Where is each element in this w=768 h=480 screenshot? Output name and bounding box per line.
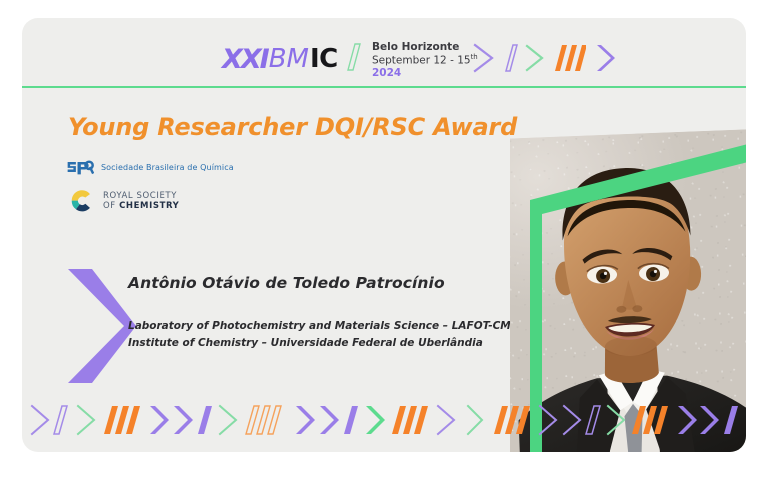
rsc-line-2-bold: CHEMISTRY (119, 201, 179, 211)
logo-roman-numeral: XXI (222, 46, 268, 73)
society-name-sbq: Sociedade Brasileira de Química (101, 163, 234, 172)
award-card: XXI BM IC Belo Horizonte September 12 - … (22, 18, 746, 452)
sbq-logo-icon (66, 156, 94, 178)
society-name-rsc: ROYAL SOCIETY OF CHEMISTRY (103, 192, 179, 211)
chevron-right-large-icon (62, 263, 138, 389)
event-city: Belo Horizonte (372, 41, 478, 53)
event-logo: XXI BM IC (222, 44, 338, 74)
recipient-name: Antônio Otávio de Toledo Patrocínio (128, 274, 445, 292)
chevron-slash-pattern-icon (22, 396, 746, 452)
event-dates: September 12 - 15th (372, 53, 478, 67)
society-logo-sbq: Sociedade Brasileira de Química (66, 156, 234, 178)
recipient-affiliation: Laboratory of Photochemistry and Materia… (128, 318, 511, 353)
slash-outline-green-icon (342, 42, 362, 72)
rsc-logo-icon (68, 188, 96, 216)
logo-bm: BM (269, 46, 309, 72)
logo-ic: IC (310, 46, 338, 72)
event-info: Belo Horizonte September 12 - 15th 2024 (372, 41, 478, 80)
rsc-line-2-prefix: OF (103, 201, 119, 211)
slash-outline-purple-icon (502, 42, 518, 74)
award-slide: XXI BM IC Belo Horizonte September 12 - … (0, 0, 768, 480)
bottom-decoration-strip (22, 396, 746, 452)
affiliation-line-2: Institute of Chemistry – Universidade Fe… (128, 335, 511, 352)
affiliation-line-1: Laboratory of Photochemistry and Materia… (128, 318, 511, 335)
event-header: XXI BM IC Belo Horizonte September 12 - … (22, 18, 746, 72)
rsc-line-2: OF CHEMISTRY (103, 202, 179, 212)
page-title: Young Researcher DQI/RSC Award (68, 113, 517, 141)
chevron-solid-purple-icon (592, 42, 618, 74)
event-year: 2024 (372, 67, 478, 79)
chevron-outline-purple-icon (470, 42, 500, 74)
event-dates-text: September 12 - 15 (372, 55, 471, 67)
society-logo-rsc: ROYAL SOCIETY OF CHEMISTRY (68, 188, 179, 216)
chevron-outline-green-icon (522, 42, 550, 74)
header-divider (22, 86, 746, 88)
triple-bar-orange-icon (552, 42, 586, 74)
